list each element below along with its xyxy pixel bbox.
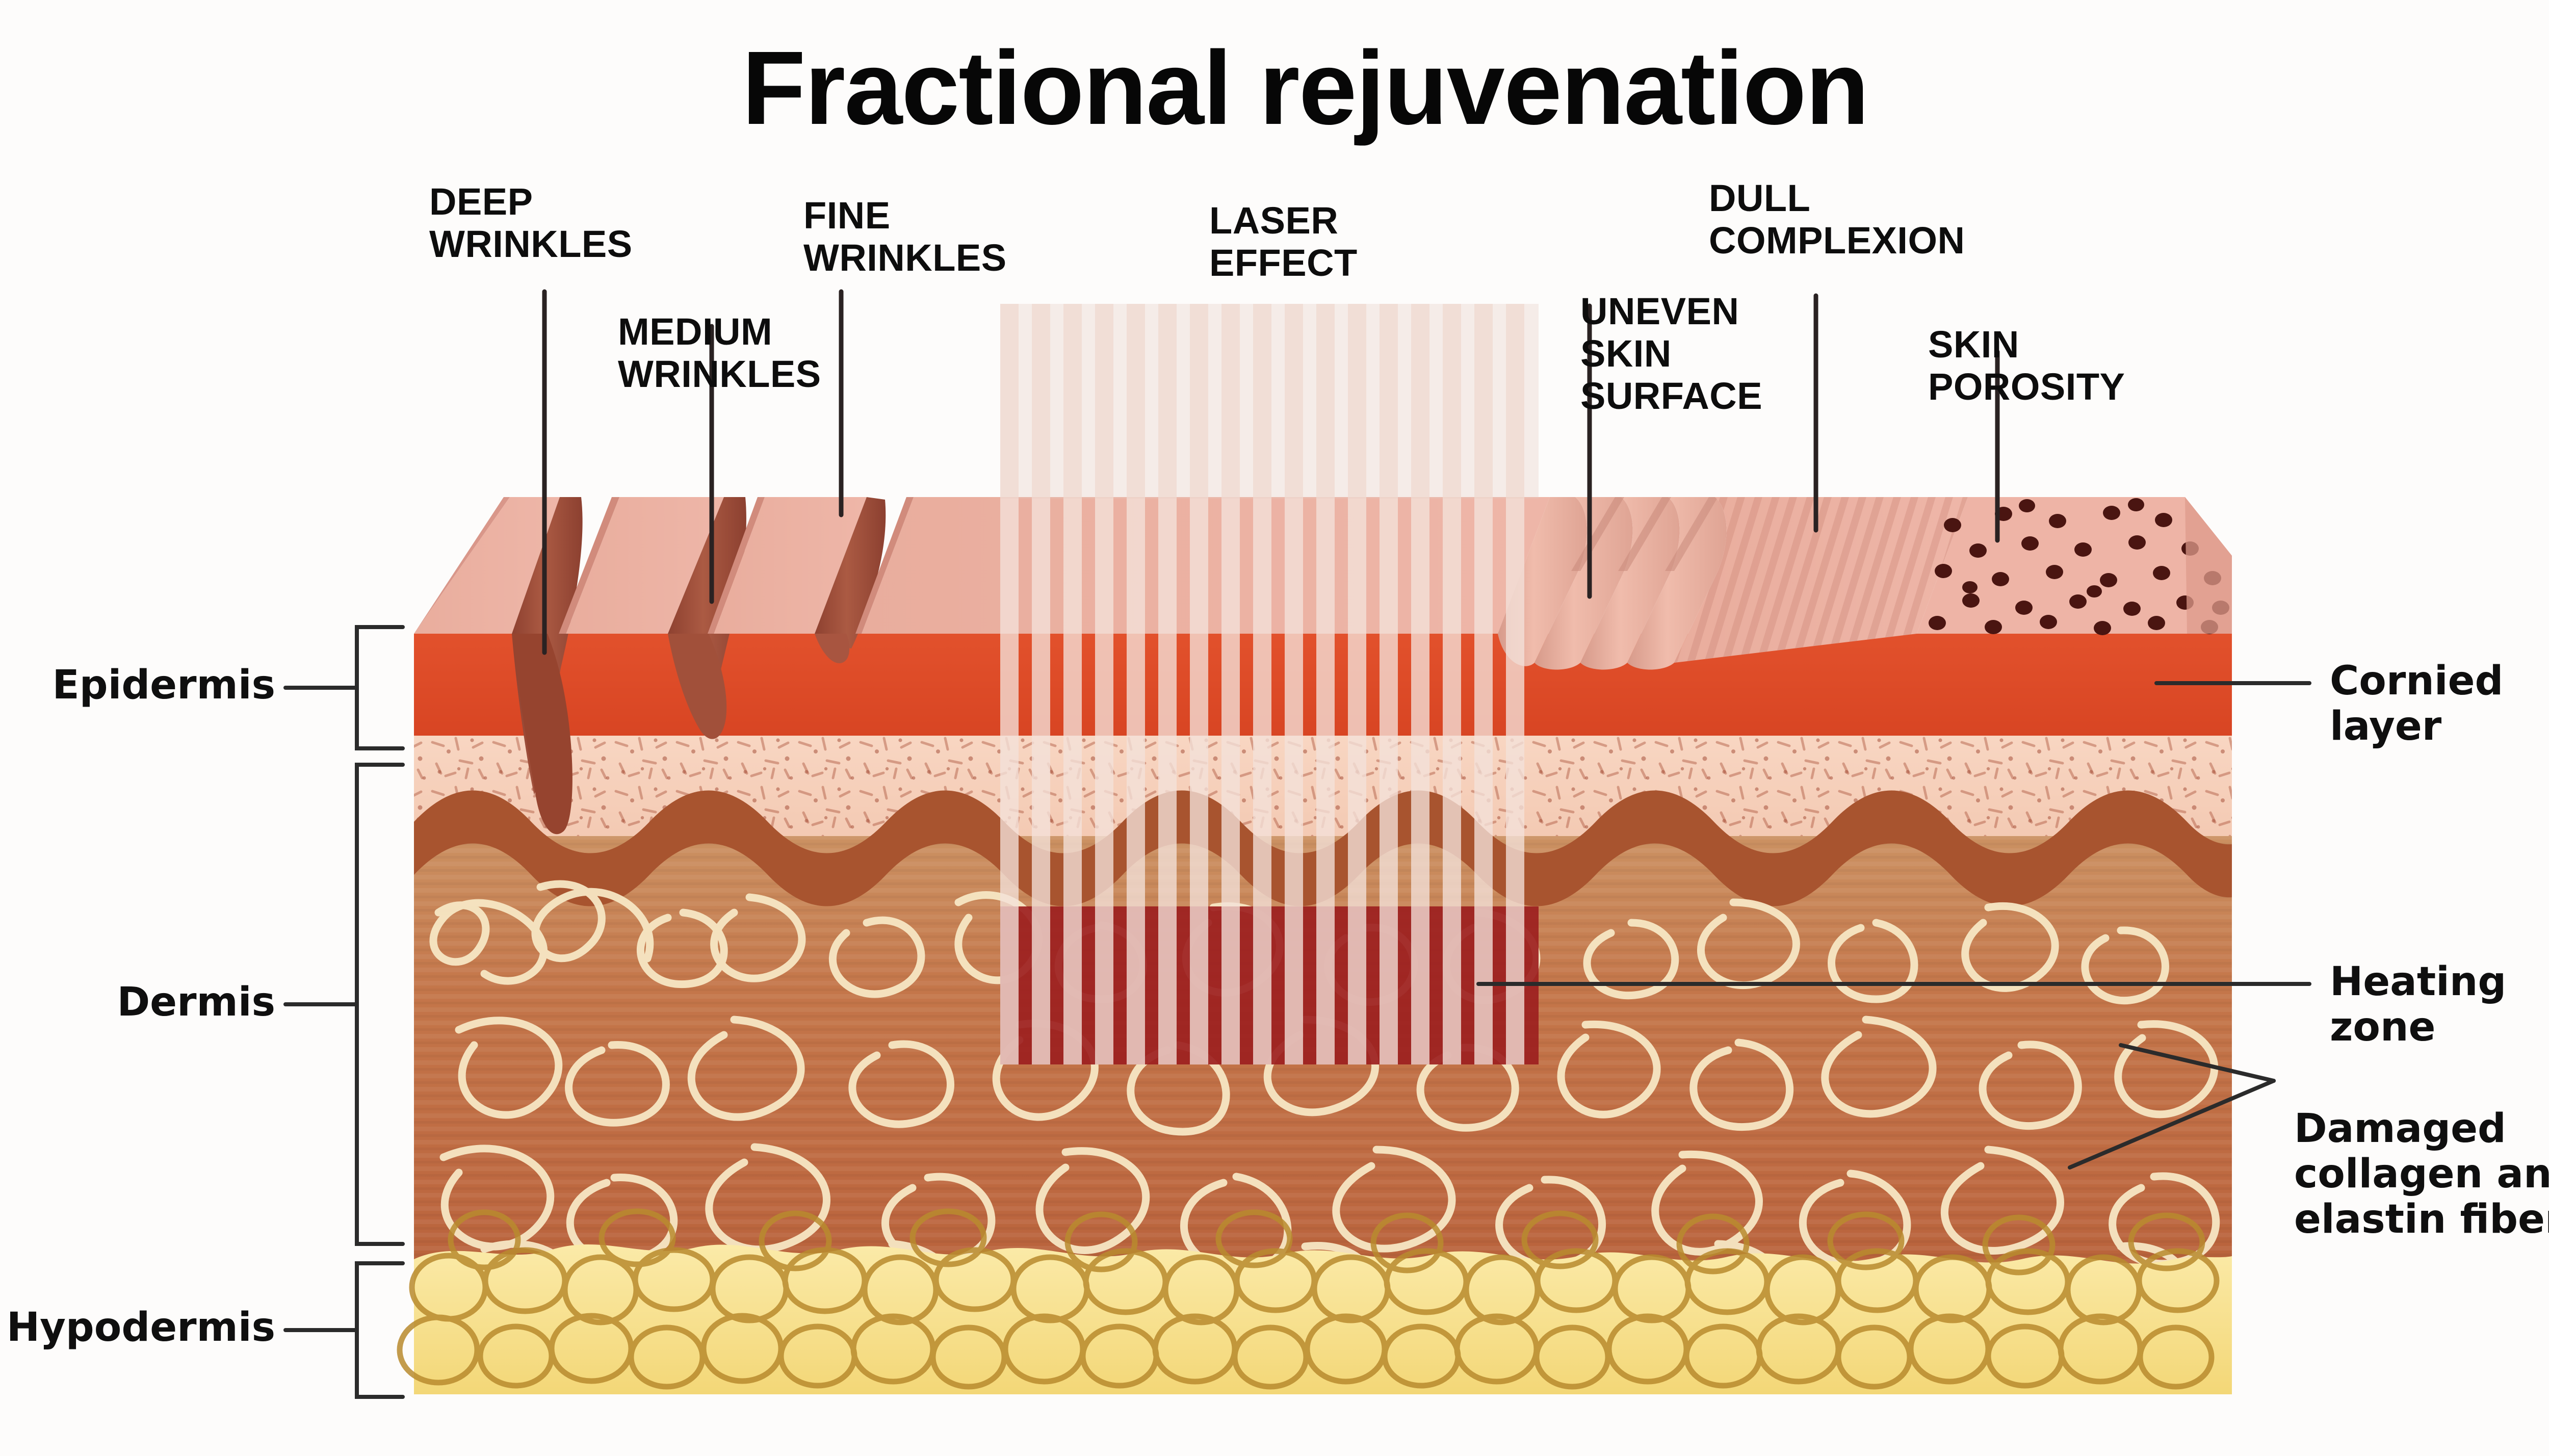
callout-medium-wrinkles: MEDIUM WRINKLES <box>618 311 821 396</box>
callout-dull-complexion: DULL COMPLEXION <box>1709 177 1965 262</box>
callout-laser-effect: LASER EFFECT <box>1209 200 1358 284</box>
callout-fine-wrinkles: FINE WRINKLES <box>803 195 1007 279</box>
label-heating-zone: Heating zone <box>2330 959 2549 1050</box>
bracket-dermis <box>285 765 403 1244</box>
bracket-epidermis <box>285 627 403 748</box>
label-dermis: Dermis <box>10 980 275 1025</box>
label-hypodermis: Hypodermis <box>0 1305 275 1350</box>
label-epidermis: Epidermis <box>10 663 275 708</box>
skin-porosity-surface <box>1917 497 2232 635</box>
callout-skin-porosity: SKIN POROSITY <box>1928 324 2125 408</box>
callout-deep-wrinkles: DEEP WRINKLES <box>429 181 633 266</box>
label-cornied-layer: Cornied layer <box>2330 659 2549 749</box>
label-damaged-fibers: Damaged collagen and elastin fibers <box>2294 1106 2549 1242</box>
callout-uneven-skin-surface: UNEVEN SKIN SURFACE <box>1580 291 1762 418</box>
laser-effect-column <box>1000 304 1539 1064</box>
diagram-canvas: Fractional rejuvenation <box>0 0 2549 1456</box>
bracket-hypodermis <box>285 1263 403 1397</box>
